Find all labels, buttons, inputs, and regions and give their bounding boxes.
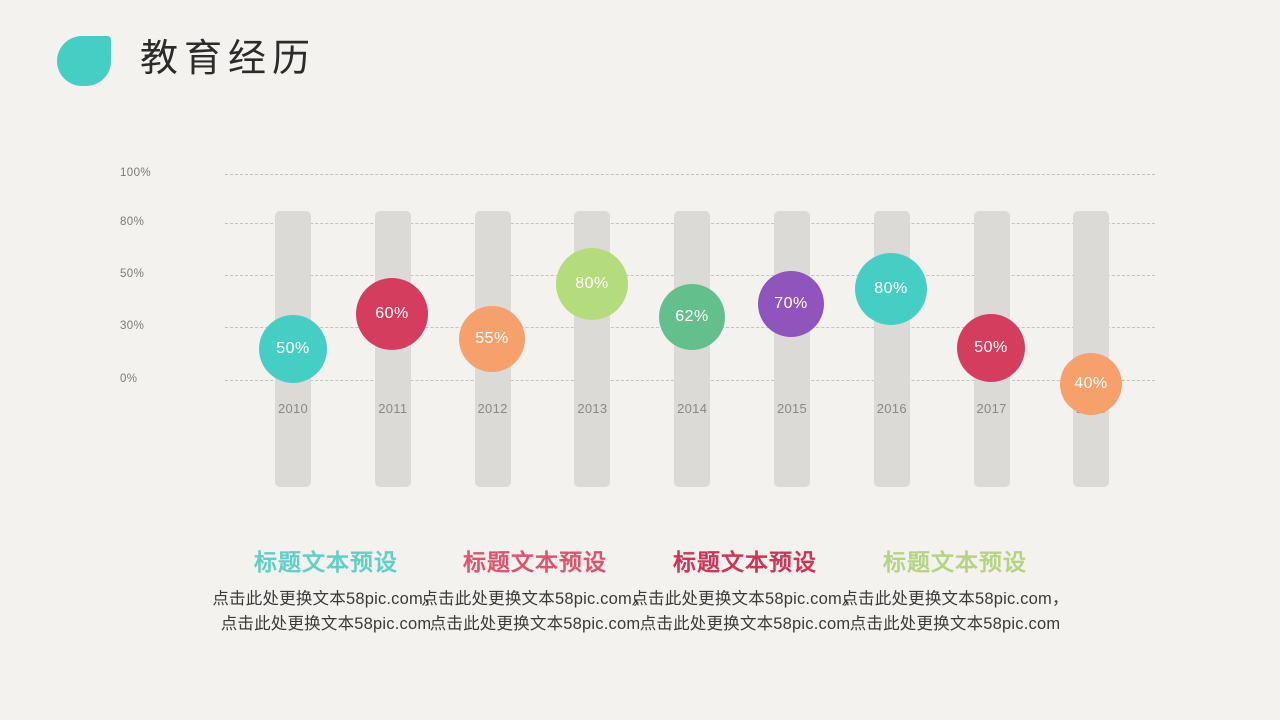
caption-row: 标题文本预设点击此处更换文本58pic.com，点击此处更换文本58pic.co… xyxy=(0,545,1280,695)
data-bubble-label: 80% xyxy=(575,275,609,293)
education-bubble-chart: 100%80%50%30%0% 201020112012201320142015… xyxy=(0,150,1280,510)
caption-body: 点击此处更换文本58pic.com，点击此处更换文本58pic.com xyxy=(420,587,650,637)
leaf-badge-icon xyxy=(57,36,111,86)
data-bubble[interactable]: 80% xyxy=(855,253,927,325)
caption-block: 标题文本预设点击此处更换文本58pic.com，点击此处更换文本58pic.co… xyxy=(840,545,1070,637)
data-bubble-label: 50% xyxy=(974,339,1008,357)
caption-block: 标题文本预设点击此处更换文本58pic.com，点击此处更换文本58pic.co… xyxy=(630,545,860,637)
data-bubble-label: 50% xyxy=(276,340,310,358)
caption-title: 标题文本预设 xyxy=(840,545,1070,579)
page-title: 教育经历 xyxy=(140,34,316,84)
caption-block: 标题文本预设点击此处更换文本58pic.com，点击此处更换文本58pic.co… xyxy=(211,545,441,637)
data-bubble-label: 55% xyxy=(475,330,509,348)
data-bubble-label: 70% xyxy=(774,295,808,313)
data-bubble[interactable]: 50% xyxy=(259,315,327,383)
caption-block: 标题文本预设点击此处更换文本58pic.com，点击此处更换文本58pic.co… xyxy=(420,545,650,637)
data-bubble-label: 62% xyxy=(675,308,709,326)
caption-title: 标题文本预设 xyxy=(420,545,650,579)
caption-title: 标题文本预设 xyxy=(630,545,860,579)
data-bubble-label: 80% xyxy=(874,280,908,298)
data-bubble[interactable]: 80% xyxy=(556,248,628,320)
chart-bubbles: 50%60%55%80%62%70%80%50%40% xyxy=(0,150,1280,510)
data-bubble-label: 60% xyxy=(375,305,409,323)
caption-body: 点击此处更换文本58pic.com，点击此处更换文本58pic.com xyxy=(211,587,441,637)
data-bubble-label: 40% xyxy=(1074,375,1108,393)
data-bubble[interactable]: 55% xyxy=(459,306,525,372)
data-bubble[interactable]: 40% xyxy=(1060,353,1122,415)
caption-title: 标题文本预设 xyxy=(211,545,441,579)
slide-header: 教育经历 xyxy=(0,0,1280,120)
data-bubble[interactable]: 70% xyxy=(758,271,824,337)
data-bubble[interactable]: 50% xyxy=(957,314,1025,382)
caption-body: 点击此处更换文本58pic.com，点击此处更换文本58pic.com xyxy=(840,587,1070,637)
data-bubble[interactable]: 62% xyxy=(659,284,725,350)
caption-body: 点击此处更换文本58pic.com，点击此处更换文本58pic.com xyxy=(630,587,860,637)
data-bubble[interactable]: 60% xyxy=(356,278,428,350)
